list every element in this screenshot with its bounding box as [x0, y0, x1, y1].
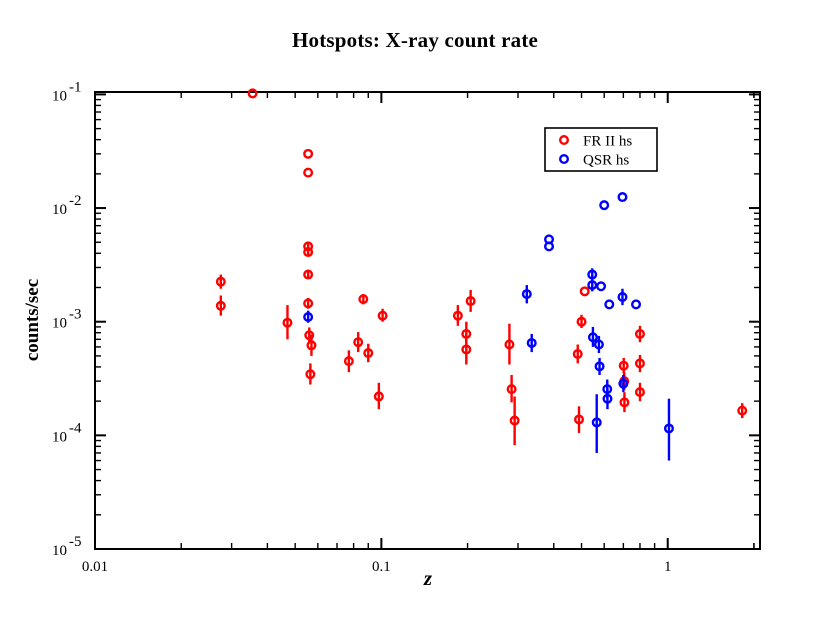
data-point[interactable]: [511, 396, 519, 445]
data-point[interactable]: [632, 301, 640, 309]
svg-text:10: 10: [52, 316, 67, 332]
svg-text:-5: -5: [69, 534, 82, 550]
marker-circle: [581, 288, 589, 296]
data-point[interactable]: [636, 383, 644, 401]
x-tick-label: 1: [664, 559, 672, 575]
marker-circle: [304, 169, 312, 177]
data-point[interactable]: [304, 270, 312, 278]
data-point[interactable]: [636, 355, 644, 372]
y-tick-label: 10-2: [52, 193, 82, 218]
data-point[interactable]: [619, 193, 627, 201]
data-point[interactable]: [596, 358, 604, 375]
y-axis-label: counts/sec: [22, 279, 43, 361]
svg-text:10: 10: [52, 88, 67, 104]
scatter-plot: 0.010.11 10-110-210-310-410-5 FR II hsQS…: [0, 0, 830, 642]
y-tick-label: 10-4: [52, 420, 82, 445]
y-tick-label: 10-1: [52, 79, 82, 104]
x-tick-label: 0.1: [372, 559, 391, 575]
data-point[interactable]: [454, 305, 462, 326]
data-series-group: [217, 90, 746, 461]
data-point[interactable]: [304, 169, 312, 177]
svg-text:10: 10: [52, 202, 67, 218]
marker-circle: [605, 301, 613, 309]
data-point[interactable]: [593, 394, 601, 453]
data-point[interactable]: [463, 334, 471, 365]
data-point[interactable]: [345, 350, 353, 372]
data-point[interactable]: [364, 344, 372, 362]
svg-text:10: 10: [52, 429, 67, 445]
data-point[interactable]: [375, 383, 383, 409]
data-point[interactable]: [307, 363, 315, 384]
svg-text:-4: -4: [69, 420, 82, 436]
data-point[interactable]: [545, 243, 553, 251]
data-point[interactable]: [605, 301, 613, 309]
data-point[interactable]: [619, 289, 627, 305]
data-point[interactable]: [284, 305, 292, 339]
svg-text:-1: -1: [69, 79, 82, 95]
data-point[interactable]: [597, 282, 605, 290]
series-qsr-hs: [304, 193, 672, 460]
plot-border: [95, 92, 760, 549]
marker-circle: [597, 282, 605, 290]
data-point[interactable]: [304, 150, 312, 158]
data-point[interactable]: [665, 399, 673, 461]
data-point[interactable]: [249, 90, 257, 98]
data-point[interactable]: [620, 358, 628, 374]
marker-circle: [304, 150, 312, 158]
marker-circle: [249, 90, 257, 98]
data-point[interactable]: [578, 315, 586, 328]
data-point[interactable]: [523, 285, 531, 303]
data-point[interactable]: [588, 278, 596, 291]
legend-label: FR II hs: [583, 134, 632, 150]
data-point[interactable]: [217, 296, 225, 316]
data-point[interactable]: [304, 247, 312, 255]
plot-frame: [95, 92, 760, 549]
svg-text:-3: -3: [69, 307, 82, 323]
data-point[interactable]: [360, 294, 368, 304]
marker-circle: [632, 301, 640, 309]
data-point[interactable]: [217, 275, 225, 289]
svg-text:10: 10: [52, 543, 67, 559]
marker-circle: [600, 201, 608, 209]
data-point[interactable]: [304, 311, 312, 323]
data-point[interactable]: [528, 334, 536, 352]
svg-text:-2: -2: [69, 193, 82, 209]
y-tick-label: 10-5: [52, 534, 82, 559]
legend: FR II hsQSR hs: [545, 128, 657, 171]
data-point[interactable]: [304, 298, 312, 309]
legend-label: QSR hs: [583, 153, 629, 169]
data-point[interactable]: [467, 290, 475, 312]
data-point[interactable]: [575, 406, 583, 433]
data-point[interactable]: [379, 309, 387, 322]
data-point[interactable]: [581, 288, 589, 296]
data-point[interactable]: [600, 201, 608, 209]
chart-page: Hotspots: X-ray count rate 0.010.11 10-1…: [0, 0, 830, 642]
data-point[interactable]: [636, 326, 644, 342]
y-tick-label: 10-3: [52, 307, 82, 332]
marker-circle: [619, 193, 627, 201]
marker-circle: [545, 243, 553, 251]
data-point[interactable]: [738, 403, 746, 418]
series-fr2-hs: [217, 90, 746, 446]
data-point[interactable]: [506, 324, 514, 365]
y-axis-tick-labels: 10-110-210-310-410-5: [52, 79, 82, 559]
data-point[interactable]: [354, 332, 362, 352]
x-tick-label: 0.01: [82, 559, 108, 575]
y-axis-ticks: [95, 94, 760, 549]
data-point[interactable]: [574, 345, 582, 364]
x-axis-label: z: [423, 566, 433, 590]
data-point[interactable]: [621, 392, 629, 412]
x-axis-tick-labels: 0.010.11: [82, 559, 672, 575]
